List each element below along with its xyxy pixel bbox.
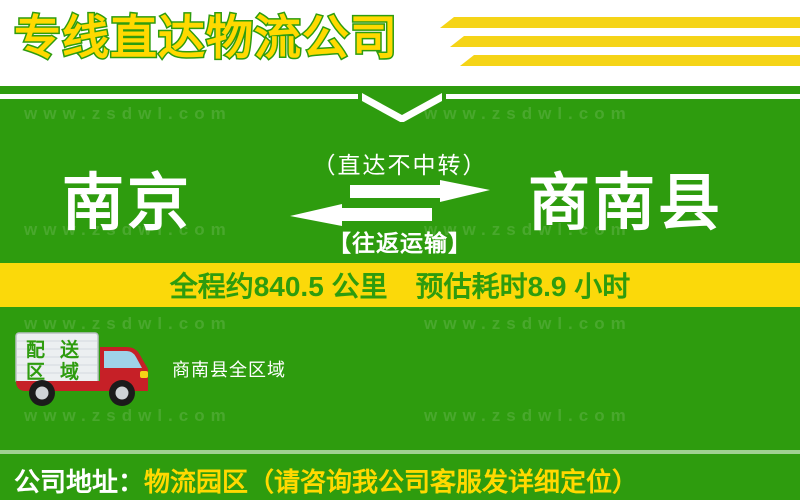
roundtrip-tag: 【往返运输】: [0, 224, 800, 258]
watermark: www.zsdwl.com: [24, 104, 232, 124]
truck-box-char-4: 域: [60, 360, 79, 383]
stripe-2: [450, 36, 800, 47]
header-banner: 专线直达物流公司: [0, 0, 800, 86]
truck-box-char-3: 区: [26, 362, 45, 383]
address-label: 公司地址：: [0, 462, 144, 499]
address-value: 物流园区（请咨询我公司客服发详细定位）: [144, 462, 638, 499]
delivery-truck-icon: 配 送 区 域: [8, 329, 168, 409]
decorative-stripes: [420, 14, 800, 74]
route-info-bar: 全程约840.5 公里 预估耗时8.9 小时: [0, 263, 800, 307]
logistics-poster: 专线直达物流公司 www.zsdwl.com www.zsdwl.com www…: [0, 0, 800, 500]
watermark: www.zsdwl.com: [424, 314, 632, 334]
chevron-down-icon: [360, 92, 444, 122]
bidirectional-arrow-icon: [290, 180, 490, 228]
watermark: www.zsdwl.com: [424, 104, 632, 124]
truck-box-char-2: 送: [60, 338, 80, 361]
duration-text: 预估耗时8.9 小时: [416, 265, 631, 305]
footer-address-bar: 公司地址： 物流园区（请咨询我公司客服发详细定位）: [0, 460, 800, 500]
stripe-1: [440, 17, 800, 28]
main-green-panel: www.zsdwl.com www.zsdwl.com www.zsdwl.co…: [0, 86, 800, 500]
page-title: 专线直达物流公司: [14, 6, 398, 70]
delivery-area-text: 商南县全区域: [172, 356, 286, 382]
truck-box-char-1: 配: [26, 339, 45, 361]
footer-divider-rule: [0, 450, 800, 454]
stripe-3: [460, 55, 800, 66]
watermark: www.zsdwl.com: [424, 406, 632, 426]
direct-route-note: （直达不中转）: [0, 146, 800, 180]
distance-text: 全程约840.5 公里: [170, 265, 388, 305]
